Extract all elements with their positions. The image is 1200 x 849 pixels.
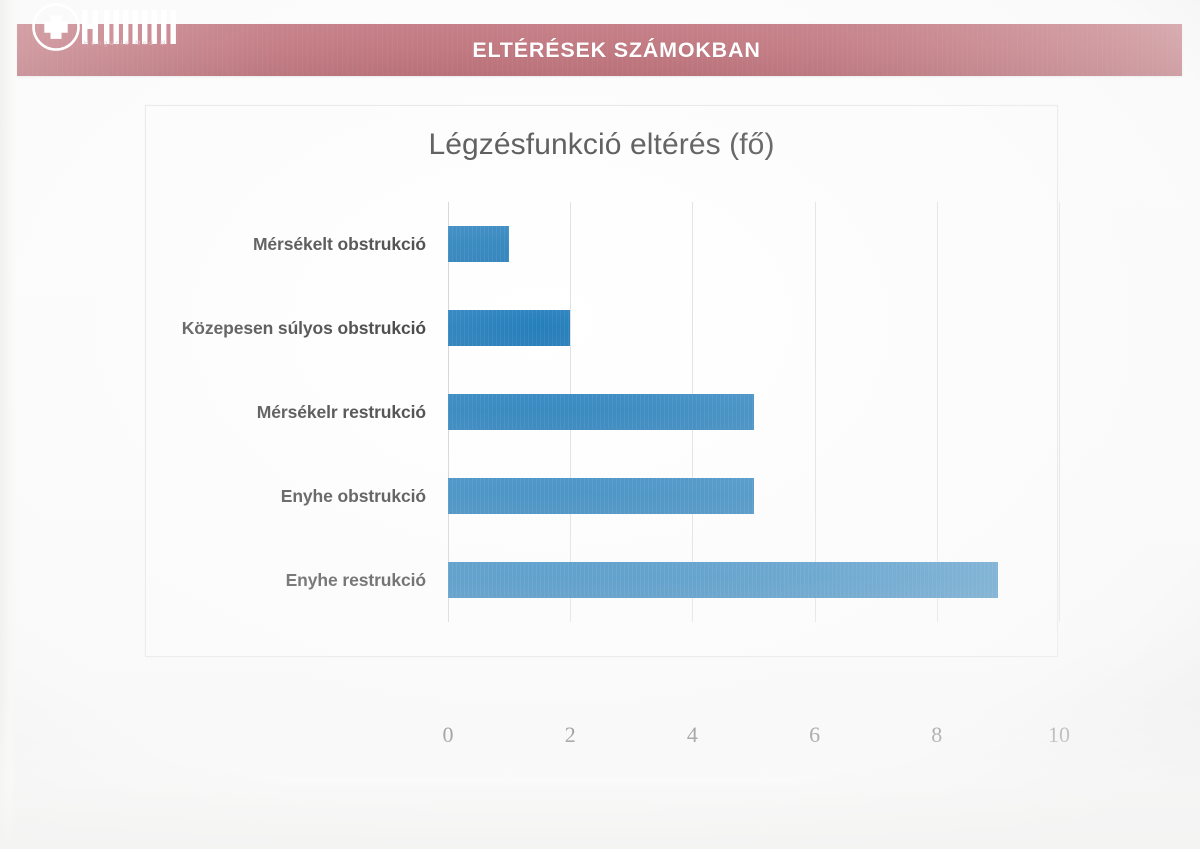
tick-label-2: 2	[540, 722, 600, 748]
bar-series	[448, 202, 1059, 622]
category-label: Közepesen súlyos obstrukció	[146, 286, 434, 370]
bar-row	[448, 370, 1059, 454]
bar-4[interactable]	[448, 478, 754, 514]
category-label: Mérsékelt obstrukció	[146, 202, 434, 286]
tick-label-10: 10	[1029, 722, 1089, 748]
category-label: Enyhe restrukció	[146, 538, 434, 622]
bar-5[interactable]	[448, 562, 998, 598]
medical-cross-circle-icon	[14, 0, 199, 61]
plot-area: Mérsékelt obstrukcióKözepesen súlyos obs…	[146, 202, 1059, 622]
bar-3[interactable]	[448, 394, 754, 430]
chart-panel: Légzésfunkció eltérés (fő) Mérsékelt obs…	[145, 105, 1058, 657]
tick-label-8: 8	[907, 722, 967, 748]
tick-label-0: 0	[418, 722, 478, 748]
chart-title: Légzésfunkció eltérés (fő)	[146, 128, 1057, 162]
category-label: Enyhe obstrukció	[146, 454, 434, 538]
bar-row	[448, 202, 1059, 286]
bar-row	[448, 286, 1059, 370]
bar-row	[448, 538, 1059, 622]
tick-label-6: 6	[785, 722, 845, 748]
bar-2[interactable]	[448, 310, 570, 346]
category-label: Mérsékelr restrukció	[146, 370, 434, 454]
bar-row	[448, 454, 1059, 538]
category-axis-labels: Mérsékelt obstrukcióKözepesen súlyos obs…	[146, 202, 434, 622]
value-axis-tick-labels: 0246810	[448, 722, 1059, 752]
tick-label-4: 4	[662, 722, 722, 748]
logo-tagline: Hungaria Med-M	[84, 40, 168, 47]
gridline-10	[1059, 202, 1060, 622]
company-logo: Hungaria Med-M	[14, 0, 199, 61]
bar-1[interactable]	[448, 226, 509, 262]
